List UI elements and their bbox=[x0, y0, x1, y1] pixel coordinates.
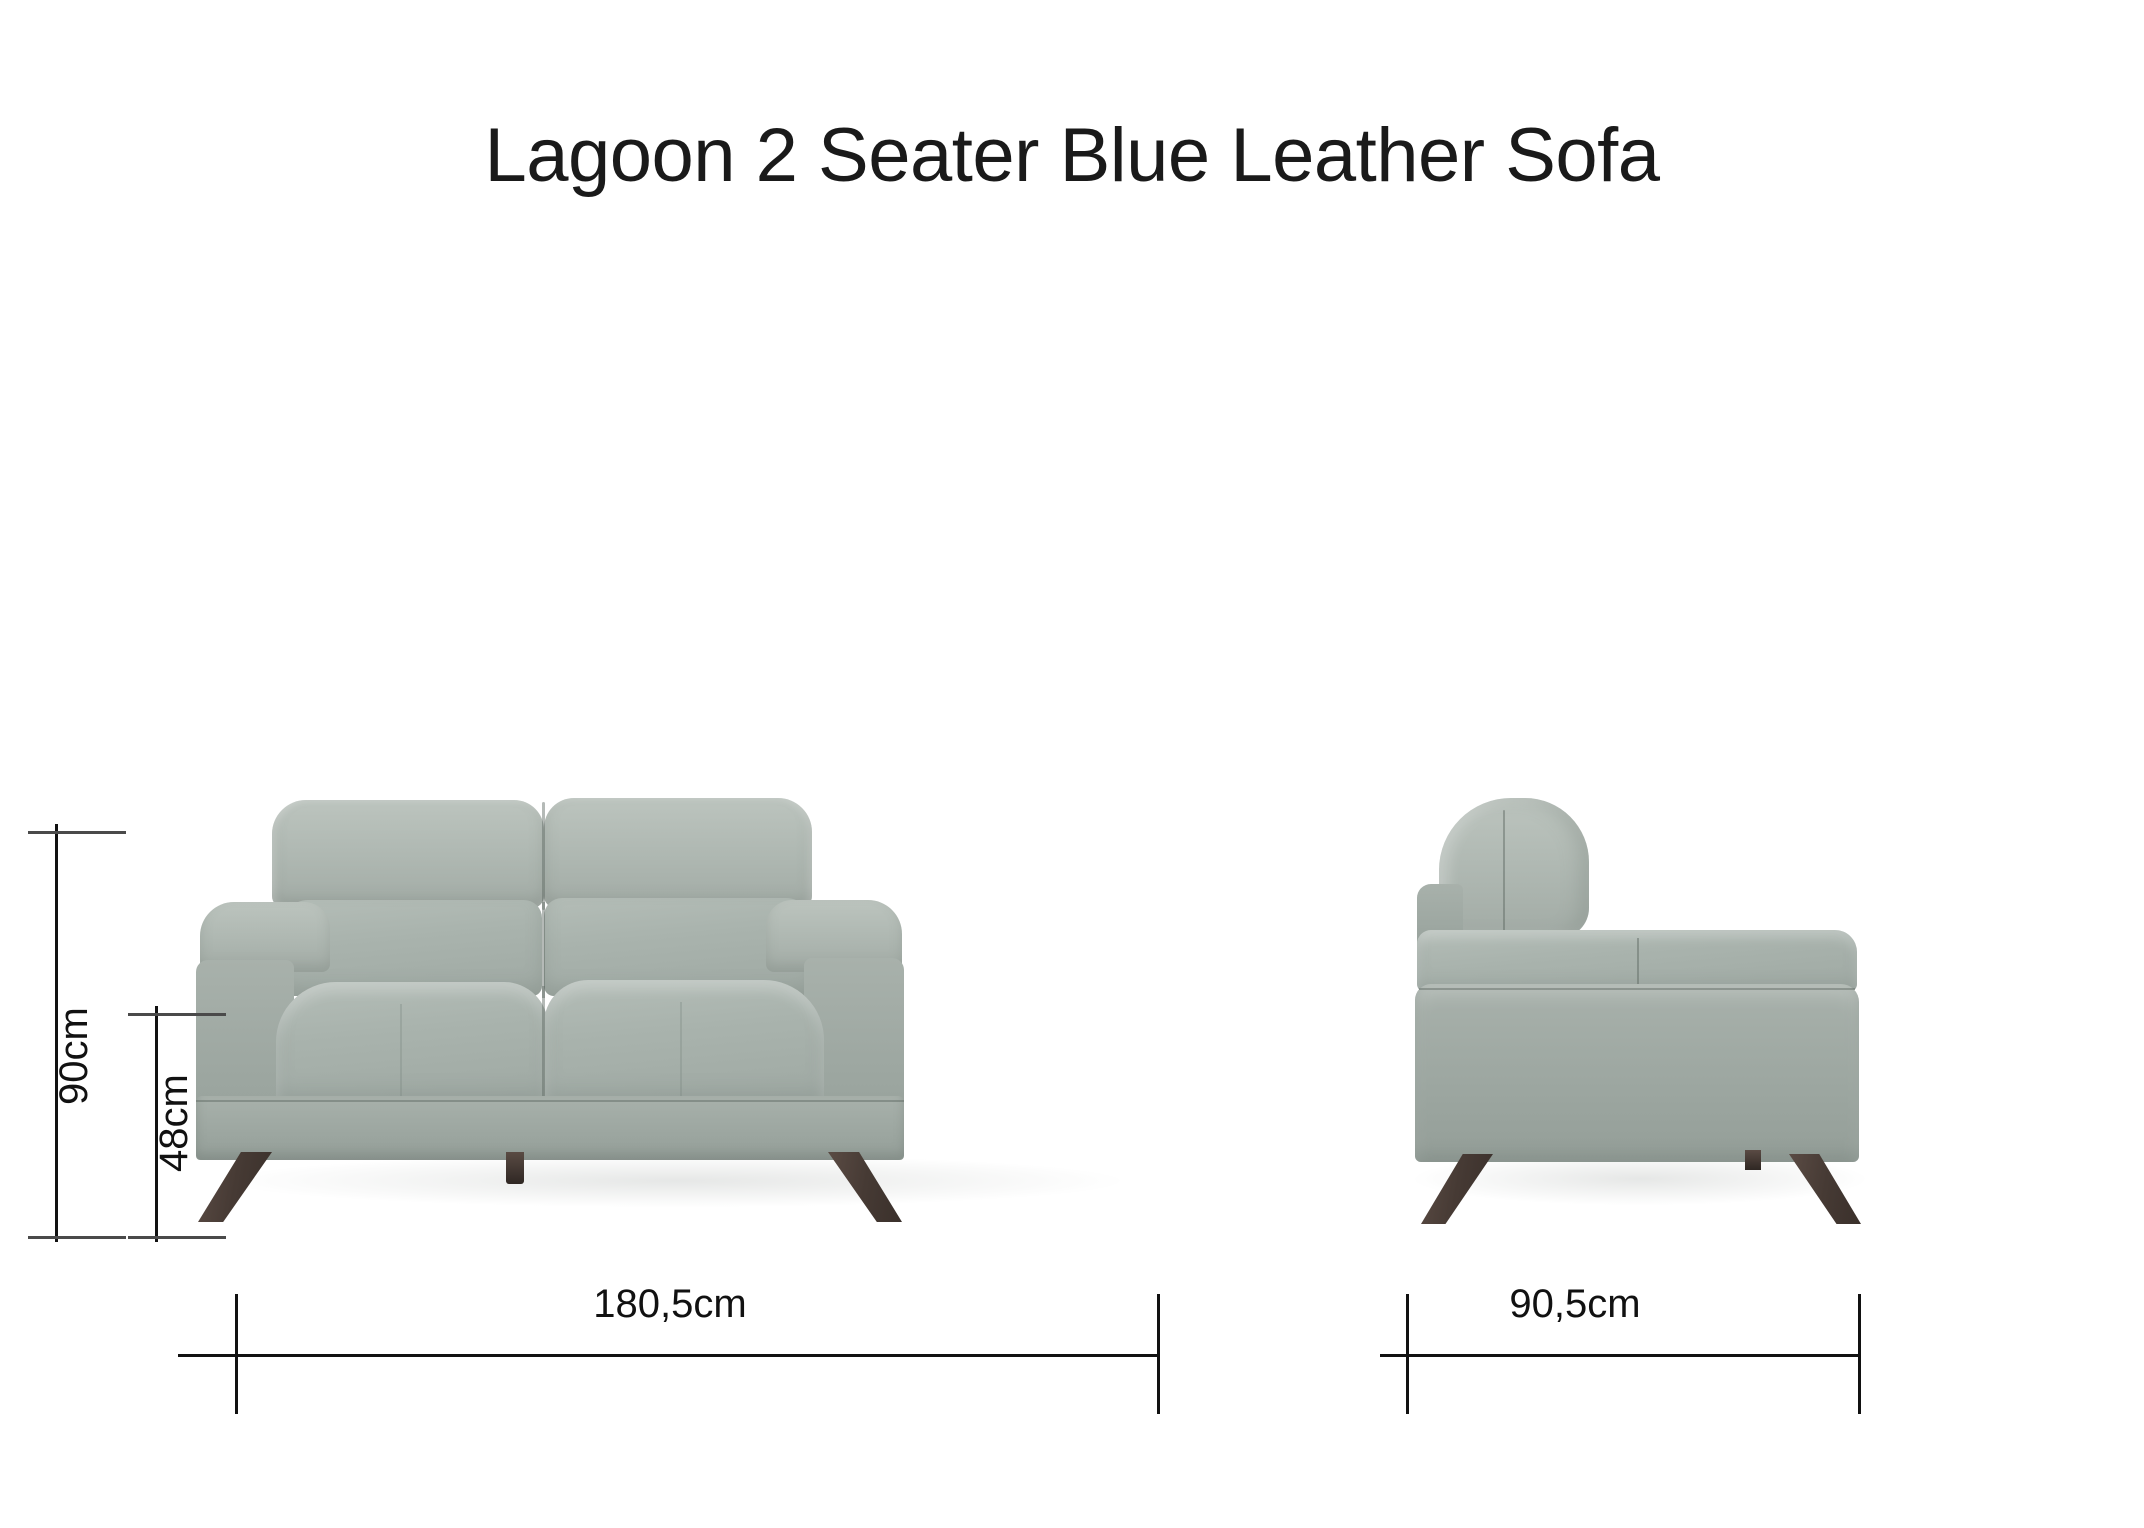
height-dimension-label: 90cm bbox=[52, 1007, 97, 1105]
seat-height-dimension-label: 48cm bbox=[152, 1074, 197, 1172]
back-cushion-side-seam bbox=[1503, 810, 1505, 934]
width-tick-left bbox=[235, 1294, 238, 1414]
back-cushion-left bbox=[272, 800, 544, 908]
seat-height-tick-bottom bbox=[128, 1236, 226, 1239]
base-rail-seam bbox=[196, 1100, 904, 1102]
depth-dimension-label: 90,5cm bbox=[1380, 1282, 1770, 1327]
depth-tick-right bbox=[1858, 1294, 1861, 1414]
seat-cushion-left bbox=[276, 982, 548, 1102]
side-panel-top-seam bbox=[1419, 988, 1855, 990]
seat-height-tick-top bbox=[128, 1013, 226, 1016]
height-tick-bottom bbox=[28, 1236, 126, 1239]
seat-stitch-right bbox=[680, 1002, 682, 1096]
seat-stitch-left bbox=[400, 1004, 402, 1096]
base-rail bbox=[196, 1096, 904, 1160]
seat-cushion-seam bbox=[542, 986, 545, 1104]
side-view bbox=[1415, 798, 1885, 1232]
front-view bbox=[210, 800, 1140, 1230]
width-dimension-line bbox=[178, 1354, 1160, 1357]
leg-front-center bbox=[506, 1152, 524, 1184]
lower-back-seam bbox=[542, 902, 545, 998]
seat-cushion-side-seam bbox=[1637, 938, 1639, 990]
width-tick-right bbox=[1157, 1294, 1160, 1414]
floor-shadow bbox=[230, 1155, 1120, 1207]
seat-cushion-right bbox=[544, 980, 824, 1102]
side-panel bbox=[1415, 984, 1859, 1162]
width-dimension-label: 180,5cm bbox=[490, 1282, 850, 1327]
depth-dimension-line bbox=[1380, 1354, 1860, 1357]
back-cushion-seam bbox=[542, 802, 545, 910]
page-title: Lagoon 2 Seater Blue Leather Sofa bbox=[0, 112, 2144, 199]
back-cushion-right bbox=[544, 798, 812, 908]
leg-side-center bbox=[1745, 1150, 1761, 1170]
height-tick-top bbox=[28, 831, 126, 834]
